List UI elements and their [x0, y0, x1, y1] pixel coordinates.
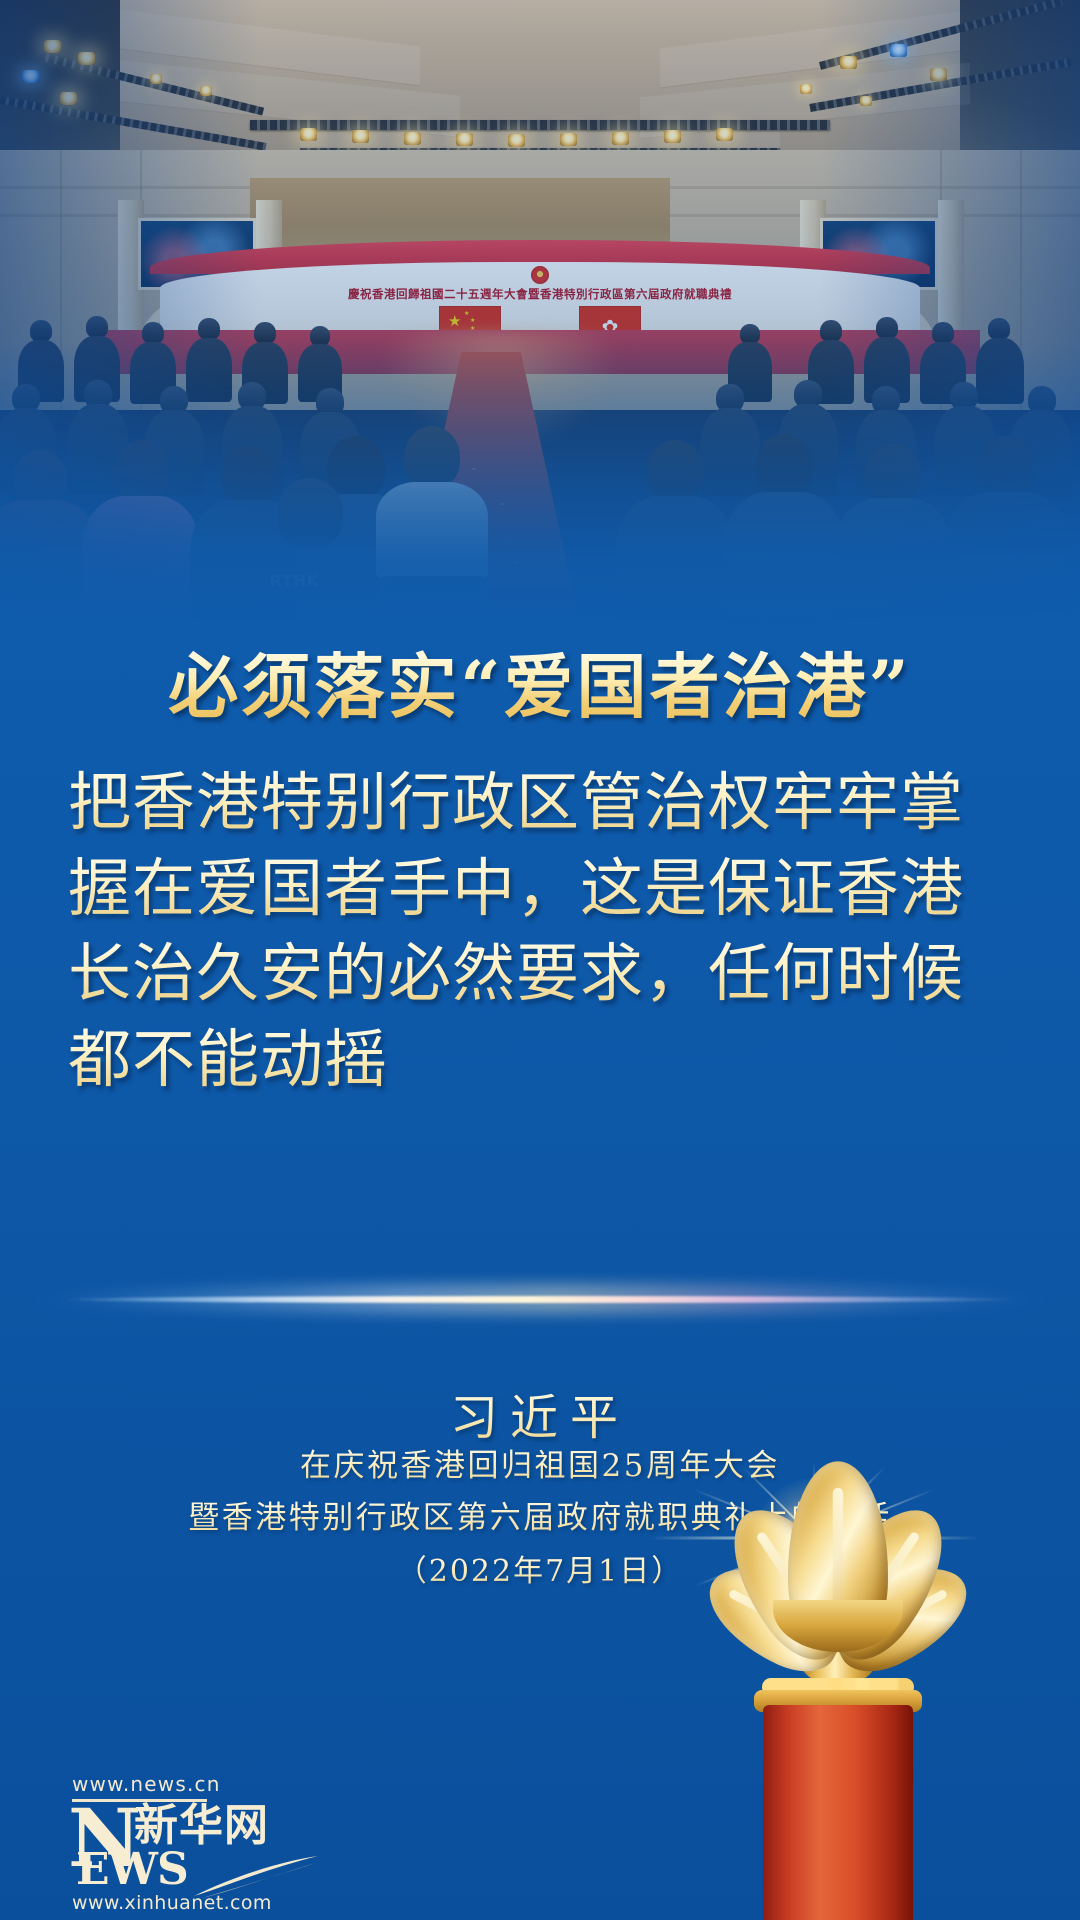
photo-bottom-fade [0, 340, 1080, 640]
page-headline: 必须落实“爱国者治港” [0, 648, 1080, 726]
quote-line: 长治久安的必然要求，任何时候 [68, 931, 1012, 1017]
logo-url-bottom: www.xinhuanet.com [72, 1892, 272, 1914]
quote-line: 把香港特别行政区管治权牢牢掌 [68, 760, 1012, 846]
ceremony-photo: 慶祝香港回歸祖國二十五週年大會暨香港特別行政區第六屆政府就職典禮 ★ ★ ★ ★… [0, 0, 1080, 640]
logo-brand-chinese: 新华网 [134, 1804, 269, 1848]
quote-line: 握在爱国者手中，这是保证香港 [68, 846, 1012, 932]
golden-bauhinia-sculpture [638, 1360, 1038, 1920]
quote-line: 都不能动摇 [68, 1017, 1012, 1103]
quote-body: 把香港特别行政区管治权牢牢掌 握在爱国者手中，这是保证香港 长治久安的必然要求，… [68, 760, 1012, 1103]
pedestal-red-column [763, 1705, 913, 1920]
poster-root: 慶祝香港回歸祖國二十五週年大會暨香港特別行政區第六屆政府就職典禮 ★ ★ ★ ★… [0, 0, 1080, 1920]
section-divider [0, 1272, 1080, 1330]
divider-line [60, 1296, 1020, 1303]
logo-brand-news: EWS [76, 1848, 188, 1892]
xinhua-logo[interactable]: www.news.cn N 新华网 EWS www.xinhuanet.com [24, 1772, 324, 1904]
